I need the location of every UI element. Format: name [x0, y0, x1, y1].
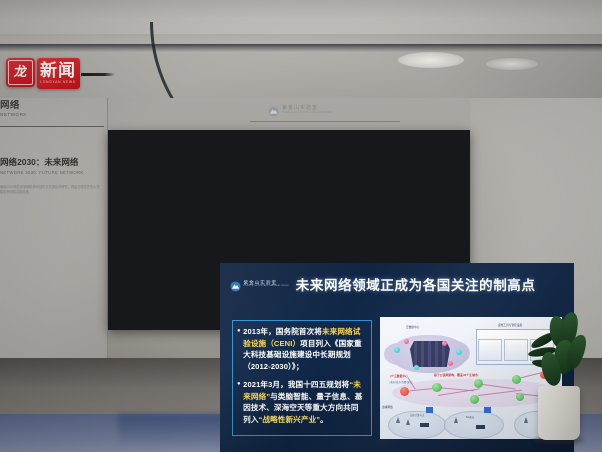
diagram-label-edge-item-0: 5G基站	[466, 415, 474, 419]
broadcaster-badge-icon: 龙	[6, 58, 35, 87]
photograph-frame: 网络 NETWORK 网络2030：未来网络 NETWORK 2030: FUT…	[0, 0, 602, 452]
presentation-slide[interactable]: 紫金山实验室 PURPLE MOUNTAIN LABORATORIES 未来网络…	[220, 263, 574, 452]
slide-bullet: ● 2013年，国务院首次将未来网络试验设施（CENI）项目列入《国家重大科技基…	[237, 326, 366, 372]
cloud-node	[442, 341, 447, 346]
wall-exhibit-subblock: 网络2030：未来网络 NETWORK 2030: FUTURE NETWORK	[0, 156, 104, 175]
panel-cell-2	[504, 339, 528, 361]
slide-bullet: ● 2021年3月，我国十四五规划将“未来网络”与类脑智能、量子信息、基因技术、…	[237, 379, 366, 425]
base-station-icon	[454, 417, 458, 423]
bullet-text-1: 2013年，国务院首次将未来网络试验设施（CENI）项目列入《国家重大科技基础设…	[243, 326, 366, 372]
slide-logo: 紫金山实验室 PURPLE MOUNTAIN LABORATORIES	[230, 279, 289, 290]
bullet2-seg1: 2021年3月，我国十四五规划将	[243, 380, 349, 389]
core-node	[432, 383, 442, 392]
broadcaster-name-block: 新闻 LONGYAN NEWS	[37, 58, 80, 89]
panel-cell-1	[478, 339, 502, 361]
diagram-label-core-note: 基于公铁网架构，覆盖40个主城市	[434, 373, 478, 377]
wall-institution-logo: 紫金山实验室 PURPLE MOUNTAIN LABORATORIES	[268, 104, 332, 115]
edge-compute-icon	[426, 407, 433, 413]
bullet-text-2: 2021年3月，我国十四五规划将“未来网络”与类脑智能、量子信息、基因技术、深海…	[243, 379, 366, 425]
cloud-node	[448, 361, 453, 366]
cloud-node	[404, 339, 409, 344]
ceiling-light-2	[486, 58, 538, 70]
exhibit-title: 网络	[0, 100, 104, 111]
gateway-node	[400, 387, 409, 396]
exhibit-divider	[0, 126, 104, 127]
bullet-marker: ●	[237, 326, 241, 372]
base-station-icon	[396, 417, 400, 423]
wall-logo-name-en: PURPLE MOUNTAIN LABORATORIES	[282, 111, 332, 114]
display-screen-bezel: 紫金山实验室 PURPLE MOUNTAIN LABORATORIES 未来网络…	[108, 130, 470, 330]
potted-plant	[528, 300, 590, 448]
badge-glyph: 龙	[13, 66, 27, 79]
broadcaster-name-en: LONGYAN NEWS	[40, 80, 76, 84]
edge-device-icon	[420, 423, 429, 427]
slide-text-box: ● 2013年，国务院首次将未来网络试验设施（CENI）项目列入《国家重大科技基…	[232, 320, 372, 436]
broadcaster-logo-bar	[81, 73, 115, 76]
cloud-node	[456, 349, 462, 355]
broadcaster-logo: 龙 新闻 LONGYAN NEWS	[6, 58, 115, 91]
bullet2-seg4: “战略性新兴产业”	[259, 415, 321, 424]
diagram-label-edge-item-1: 边缘计算节点	[410, 413, 424, 417]
diagram-label-edge: 边缘网络	[382, 405, 393, 409]
ceiling-cove-shadow	[0, 44, 602, 52]
base-station-icon	[406, 419, 410, 425]
exhibit-title-en: NETWORK	[0, 112, 104, 117]
bullet-marker: ●	[237, 379, 241, 425]
cloud-node	[394, 347, 400, 353]
slide-title: 未来网络领域正成为各国关注的制高点	[296, 274, 536, 294]
slide-logo-name-en: PURPLE MOUNTAIN LABORATORIES	[244, 285, 289, 288]
plant-pot	[538, 386, 580, 440]
wall-exhibit-text: 网络 NETWORK	[0, 100, 104, 117]
core-node	[512, 375, 521, 384]
bullet2-seg5: 。	[320, 415, 328, 424]
edge-device-icon	[476, 425, 485, 429]
core-node	[474, 379, 483, 388]
exhibit-subtitle-en: NETWORK 2030: FUTURE NETWORK	[0, 170, 104, 175]
ceiling-light-1	[398, 52, 464, 68]
bullet1-seg1: 2013年，国务院首次将	[243, 327, 322, 336]
exhibit-body-text: 面向2030年的未来网络体系结构与关键技术研究，构建全球领先的大规模未来网络试验…	[0, 185, 100, 213]
broadcaster-name-cn: 新闻	[40, 63, 76, 80]
cloud-node	[414, 365, 419, 370]
badge-inner-frame: 龙	[8, 60, 33, 85]
mountain-logo-icon	[268, 104, 279, 115]
diagram-label-panel: 运维工具与管控设施	[498, 323, 522, 327]
edge-compute-icon	[484, 407, 491, 413]
slide-header: 紫金山实验室 PURPLE MOUNTAIN LABORATORIES 未来网络…	[220, 269, 574, 299]
mountain-logo-icon	[230, 279, 241, 290]
core-node	[470, 395, 479, 404]
wall-logo-underline	[250, 121, 400, 122]
exhibit-subtitle: 网络2030：未来网络	[0, 156, 104, 168]
diagram-label-cloud: 云数据中心	[406, 325, 419, 329]
core-node	[516, 393, 524, 401]
diagram-label-cloud-count: 4个云数据中心	[390, 374, 408, 378]
wall-left-exhibit-panel	[0, 98, 108, 360]
